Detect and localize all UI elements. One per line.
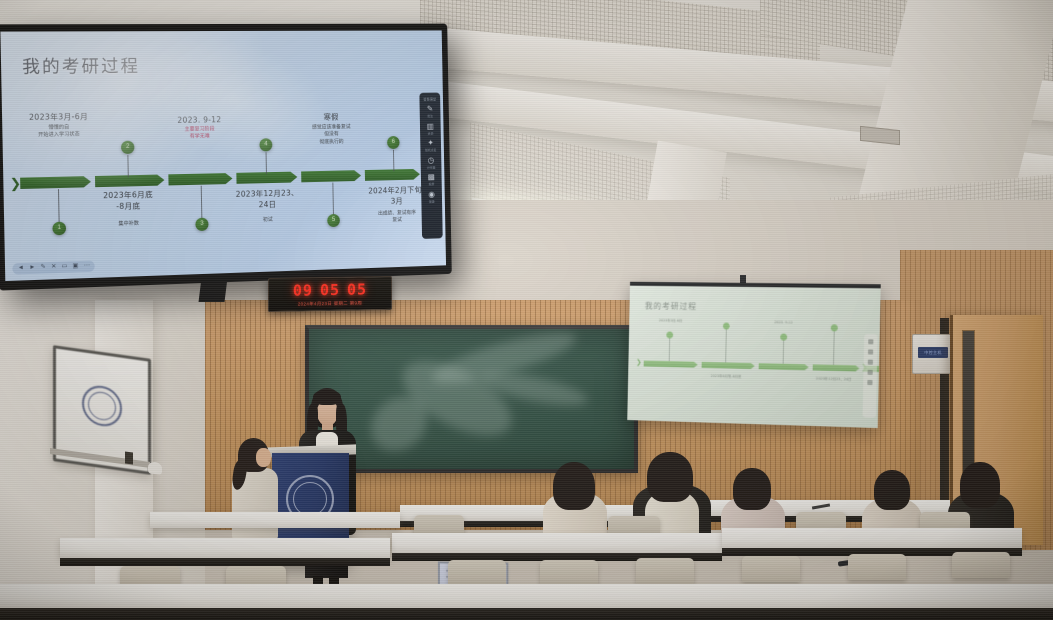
control-panel-label: 中控主机 (918, 347, 948, 358)
projection-slide-title: 我的考研过程 (645, 301, 697, 313)
chair (952, 552, 1010, 578)
timeline-segment (20, 176, 91, 189)
toolbar-item-pen[interactable]: ✎ 批注 (421, 104, 438, 119)
university-seal-icon (82, 383, 122, 429)
desk-front (60, 558, 390, 566)
projection-node (831, 324, 838, 331)
toolbar-item-timer[interactable]: ◷ 计时器 (422, 155, 439, 170)
timeline-sub-5: 感觉应该准备复试 但没有 彻底执行的 (291, 124, 372, 147)
timeline-date-5: 寒假 (290, 111, 371, 123)
audience-member (725, 468, 781, 536)
toolbar-item-label: 随机点名 (422, 148, 439, 153)
projection-node (666, 331, 673, 338)
smart-classroom-toolbar[interactable]: 智慧课堂 ✎ 批注 ▥ 资源 ✦ 随机点名 ◷ 计时器 ▩ (419, 93, 442, 239)
desk (392, 533, 722, 553)
projection-toolbar (863, 334, 878, 418)
close-icon[interactable]: ✕ (51, 262, 56, 273)
chair (540, 560, 598, 586)
tv-screen: 我的考研过程 ❯ ❯ 2023年3月-6月 懵懂的自 开始进入学习状态 1 (0, 30, 446, 281)
listener-face (256, 448, 271, 467)
slideshow-control-bar[interactable]: ◄ ► ✎ ✕ ▭ ▣ ⋯ (12, 261, 95, 275)
main-display-tv: 我的考研过程 ❯ ❯ 2023年3月-6月 懵懂的自 开始进入学习状态 1 (0, 24, 452, 291)
timeline-node-5: 5 (327, 214, 340, 227)
timeline-node-4: 4 (259, 138, 272, 151)
toolbar-icon (867, 380, 872, 385)
timeline-label-1: 2023年3月-6月 懵懂的自 开始进入学习状态 (10, 111, 106, 141)
prev-icon[interactable]: ◄ (18, 263, 24, 275)
clock-date-line: 2024年4月23日 星期二 第9周 (269, 300, 391, 308)
projection-screen: 我的考研过程 ❯ ❯ 2023年3月-6月 2023年6月底-8月底 2023.… (627, 282, 881, 428)
timeline-label-2: 2023年6月底 -8月底 集中补数 (85, 188, 171, 229)
timeline-segment (168, 173, 232, 186)
slide-title: 我的考研过程 (22, 51, 140, 77)
classroom-presentation-scene: 中控主机 我的考研过程 ❯ ❯ 2023年3月-6月 2023年6月底-8月底 … (0, 0, 1053, 620)
timeline-sub-1: 懵懂的自 开始进入学习状态 (11, 124, 107, 140)
timeline-sub-3: 主要复习阶段 有学无难 (157, 126, 241, 142)
more-icon[interactable]: ⋯ (84, 261, 90, 272)
timeline-label-3: 2023. 9-12 主要复习阶段 有学无难 (157, 115, 242, 142)
qrcode-icon: ▩ (423, 172, 440, 182)
star-icon: ✦ (422, 138, 439, 148)
chair (448, 560, 506, 586)
timeline-node-2: 2 (121, 141, 135, 154)
audience-hair (553, 462, 595, 510)
toolbar-item-label: 答疑 (423, 199, 440, 204)
timeline-label-4: 2023年12月23、 24日 初试 (225, 187, 310, 225)
timeline-node-6: 6 (387, 136, 400, 149)
desk (0, 584, 1053, 608)
timeline-date-4: 2023年12月23、 24日 (225, 187, 310, 211)
audience-member (545, 462, 605, 532)
timeline-date-1: 2023年3月-6月 (10, 111, 106, 124)
projection-node-label: 2023年6月底-8月底 (694, 374, 759, 381)
projection-node-label: 寒假 (852, 322, 881, 328)
marker-pen (125, 451, 133, 464)
timeline-segment (301, 170, 361, 182)
toolbar-icon (868, 339, 873, 344)
timeline-label-5: 寒假 感觉应该准备复试 但没有 彻底执行的 (290, 111, 372, 147)
timeline-node-1: 1 (52, 222, 66, 236)
toolbar-item-label: 投屏 (423, 182, 440, 187)
laser-icon[interactable]: ▣ (72, 261, 78, 272)
audience-hair (960, 462, 1000, 508)
timeline-node-num-5: 5 (332, 217, 335, 223)
slides-icon[interactable]: ▭ (61, 261, 67, 272)
timeline-node-num-6: 6 (392, 139, 395, 145)
timeline: ❯ ❯ 2023年3月-6月 懵懂的自 开始进入学习状态 1 (8, 106, 436, 266)
timeline-node-num-4: 4 (264, 141, 267, 147)
toolbar-item-help[interactable]: ◉ 答疑 (423, 189, 440, 204)
toolbar-icon (868, 370, 873, 375)
desk-front (0, 608, 1053, 620)
toolbar-item-random-call[interactable]: ✦ 随机点名 (422, 138, 439, 153)
audience-hair (647, 452, 693, 502)
clock-icon: ◷ (422, 155, 439, 165)
desk (150, 512, 400, 528)
toolbar-item-label: 批注 (422, 114, 439, 119)
projection-node-label: 2023年12月23、24日 (800, 376, 867, 383)
desk (60, 538, 390, 558)
timeline-sub-2: 集中补数 (86, 220, 172, 230)
audience-hair (874, 470, 910, 510)
briefcase-icon: ▥ (422, 121, 439, 131)
clock-digits: 09 05 05 (269, 277, 391, 300)
timeline-date-3: 2023. 9-12 (157, 115, 241, 125)
toolbar-item-cast[interactable]: ▩ 投屏 (423, 172, 440, 187)
audience-hair (733, 468, 771, 510)
timeline-node-num-1: 1 (57, 225, 61, 231)
toolbar-item-label: 计时器 (423, 165, 440, 170)
timeline-node-num-3: 3 (200, 221, 203, 227)
toolbar-icon (868, 349, 873, 354)
toolbar-item-label: 资源 (422, 131, 439, 136)
digital-wall-clock: 09 05 05 2024年4月23日 星期二 第9周 (268, 276, 392, 312)
audience-member (866, 470, 918, 536)
control-panel-screen: 中控主机 (918, 347, 948, 358)
clock-hours: 09 (293, 281, 313, 299)
timeline-node-3: 3 (195, 218, 208, 231)
pen-icon[interactable]: ✎ (41, 262, 46, 273)
projection-node (780, 334, 787, 341)
projection-node (723, 323, 730, 330)
chair (636, 558, 694, 584)
desk (722, 528, 1022, 548)
timeline-segment (95, 174, 165, 187)
projection-node-label: 2023年3月-6月 (639, 318, 703, 324)
toolbar-icon (868, 360, 873, 365)
clock-seconds: 05 (347, 280, 367, 298)
desk-lamp (148, 461, 162, 474)
presenter-hair-front (313, 390, 341, 405)
timeline-node-num-2: 2 (126, 144, 130, 150)
help-icon: ◉ (423, 189, 440, 199)
timeline-date-2: 2023年6月底 -8月底 (85, 188, 171, 212)
projection-node-label: 2023. 9-12 (752, 320, 816, 326)
timeline-sub-4: 初试 (225, 216, 310, 226)
next-icon[interactable]: ► (29, 263, 35, 275)
toolbar-header: 智慧课堂 (423, 97, 436, 102)
chair (848, 554, 906, 580)
toolbar-item-resources[interactable]: ▥ 资源 (422, 121, 439, 136)
pen-icon: ✎ (421, 104, 438, 114)
clock-minutes: 05 (320, 281, 340, 299)
chair (742, 556, 800, 582)
